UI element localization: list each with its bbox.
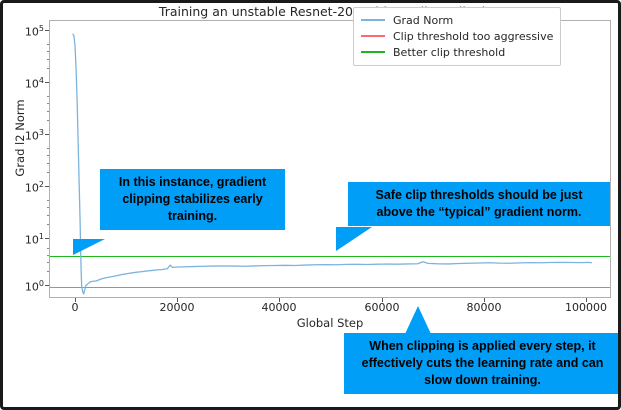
callout-tail-3 — [405, 306, 431, 334]
x-tick-label-60000: 60000 — [365, 301, 400, 314]
annotation-callout-3: When clipping is applied every step, it … — [344, 333, 621, 394]
legend-swatch-icon — [361, 35, 385, 37]
callout-tail-2 — [336, 227, 372, 251]
legend-label: Clip threshold too aggressive — [393, 30, 553, 43]
x-tick-mark-60000 — [382, 298, 383, 302]
annotation-callout-1: In this instance, gradient clipping stab… — [100, 169, 285, 230]
callout-tail-1 — [73, 239, 105, 255]
legend-swatch-icon — [361, 19, 385, 21]
x-tick-mark-80000 — [484, 298, 485, 302]
legend-label: Better clip threshold — [393, 46, 505, 59]
x-tick-label-0: 0 — [72, 301, 79, 314]
x-tick-mark-20000 — [177, 298, 178, 302]
x-tick-mark-100000 — [586, 298, 587, 302]
screenshot-frame: Training an unstable Resnet-200 with gra… — [0, 0, 621, 410]
legend: Grad Norm Clip threshold too aggressive … — [353, 7, 561, 66]
x-tick-label-80000: 80000 — [467, 301, 502, 314]
y-tick-label-1e0: 100 — [3, 279, 44, 294]
x-tick-mark-40000 — [279, 298, 280, 302]
y-tick-label-1e4: 104 — [3, 76, 44, 91]
legend-item-clip-better: Better clip threshold — [361, 44, 553, 60]
x-tick-label-40000: 40000 — [262, 301, 297, 314]
legend-label: Grad Norm — [393, 14, 453, 27]
y-tick-label-1e3: 103 — [3, 128, 44, 143]
legend-item-clip-aggressive: Clip threshold too aggressive — [361, 28, 553, 44]
y-tick-label-1e1: 101 — [3, 232, 44, 247]
legend-item-grad-norm: Grad Norm — [361, 12, 553, 28]
y-tick-label-1e5: 105 — [3, 24, 44, 39]
y-tick-label-1e2: 102 — [3, 180, 44, 195]
x-axis-label: Global Step — [49, 316, 611, 330]
legend-swatch-icon — [361, 51, 385, 53]
annotation-callout-2: Safe clip thresholds should be just abov… — [348, 182, 610, 226]
matplotlib-figure: Training an unstable Resnet-200 with gra… — [3, 3, 621, 410]
x-tick-label-20000: 20000 — [160, 301, 195, 314]
x-tick-label-100000: 100000 — [565, 301, 607, 314]
x-tick-mark-0 — [75, 298, 76, 302]
